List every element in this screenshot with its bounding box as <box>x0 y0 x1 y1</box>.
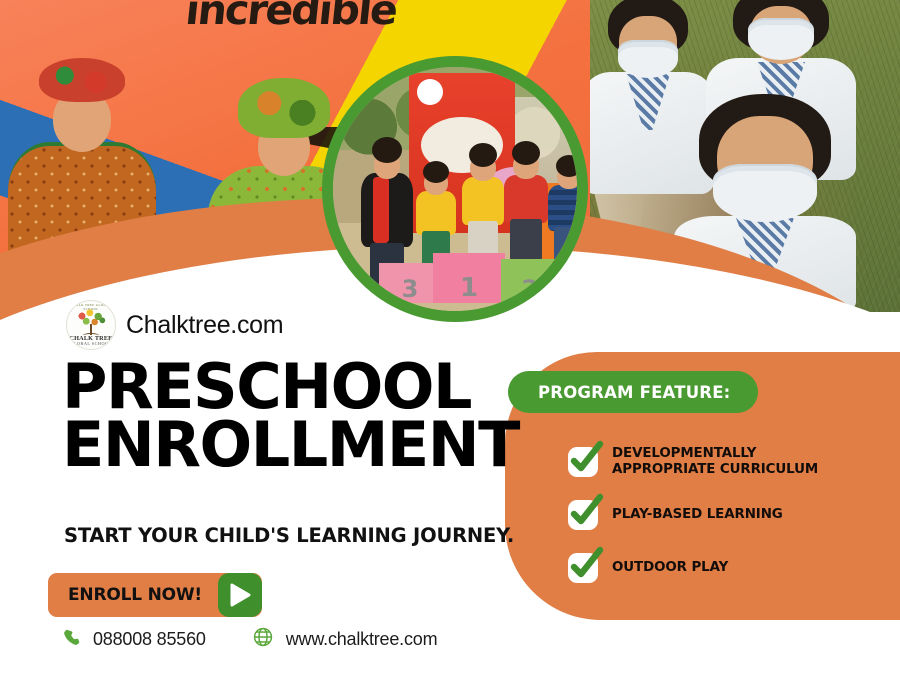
poster-canvas: incredible <box>0 0 900 700</box>
child-turban <box>39 58 125 102</box>
check-icon <box>568 553 598 583</box>
website-url: www.chalktree.com <box>286 629 438 650</box>
child-hair <box>423 161 449 183</box>
logo-name-line2: GLOBAL SCHOOL <box>67 341 115 346</box>
contact-row: 088008 85560 www.chalktree.com <box>62 626 437 653</box>
podium-block-first: 1 <box>433 253 505 303</box>
child-jacket <box>504 175 548 223</box>
chalk-tree-logo-icon: CHALK TREE GLOBAL SCHOOL CHALK TREE GLOB… <box>66 300 116 350</box>
program-feature-list: DEVELOPMENTALLY APPROPRIATE CURRICULUM P… <box>568 446 898 606</box>
brand-logo-row[interactable]: CHALK TREE GLOBAL SCHOOL CHALK TREE GLOB… <box>66 300 283 350</box>
backdrop-text: incredible <box>184 0 489 32</box>
child-jacket <box>548 185 588 231</box>
face-mask <box>618 40 678 78</box>
winners-podium: 3 1 2 <box>379 247 559 303</box>
child-hair <box>469 143 497 167</box>
feature-label: DEVELOPMENTALLY APPROPRIATE CURRICULUM <box>612 446 818 477</box>
child-jacket <box>416 191 456 235</box>
feature-label: OUTDOOR PLAY <box>612 560 728 576</box>
check-icon <box>568 500 598 530</box>
page-title: PRESCHOOL ENROLLMENT <box>62 358 582 475</box>
child-jacket <box>462 177 504 225</box>
phone-contact[interactable]: 088008 85560 <box>62 628 206 652</box>
podium-child-first-b <box>503 141 549 259</box>
child-hair <box>512 141 540 165</box>
banner-logo <box>417 79 443 105</box>
feature-label-line1: DEVELOPMENTALLY <box>612 446 756 461</box>
feature-label-line2: APPROPRIATE CURRICULUM <box>612 462 818 477</box>
face-mask <box>713 164 817 222</box>
feature-item: OUTDOOR PLAY <box>568 553 898 583</box>
photo-center-podium-circle: 3 1 2 <box>322 56 588 322</box>
subheadline: START YOUR CHILD'S LEARNING JOURNEY. <box>64 524 514 547</box>
teacher-hair <box>372 137 402 163</box>
child-headscarf <box>238 78 330 138</box>
enroll-now-button[interactable]: ENROLL NOW! <box>48 573 262 617</box>
face-mask <box>748 18 814 60</box>
headline-line2: ENROLLMENT <box>62 416 582 474</box>
feature-item: DEVELOPMENTALLY APPROPRIATE CURRICULUM <box>568 446 898 477</box>
teacher-scarf <box>373 177 389 243</box>
play-triangle-icon[interactable] <box>218 573 262 617</box>
podium-child-first-a <box>461 143 505 259</box>
phone-icon <box>62 628 81 652</box>
podium-block-second: 2 <box>501 259 559 303</box>
enroll-now-label: ENROLL NOW! <box>68 585 202 605</box>
website-contact[interactable]: www.chalktree.com <box>252 626 438 653</box>
phone-number: 088008 85560 <box>93 629 206 650</box>
podium-block-third: 3 <box>379 263 441 303</box>
feature-label: PLAY-BASED LEARNING <box>612 507 783 523</box>
child-hair <box>556 155 582 177</box>
feature-item: PLAY-BASED LEARNING <box>568 500 898 530</box>
globe-icon <box>252 626 274 653</box>
brand-name: Chalktree.com <box>126 311 283 340</box>
